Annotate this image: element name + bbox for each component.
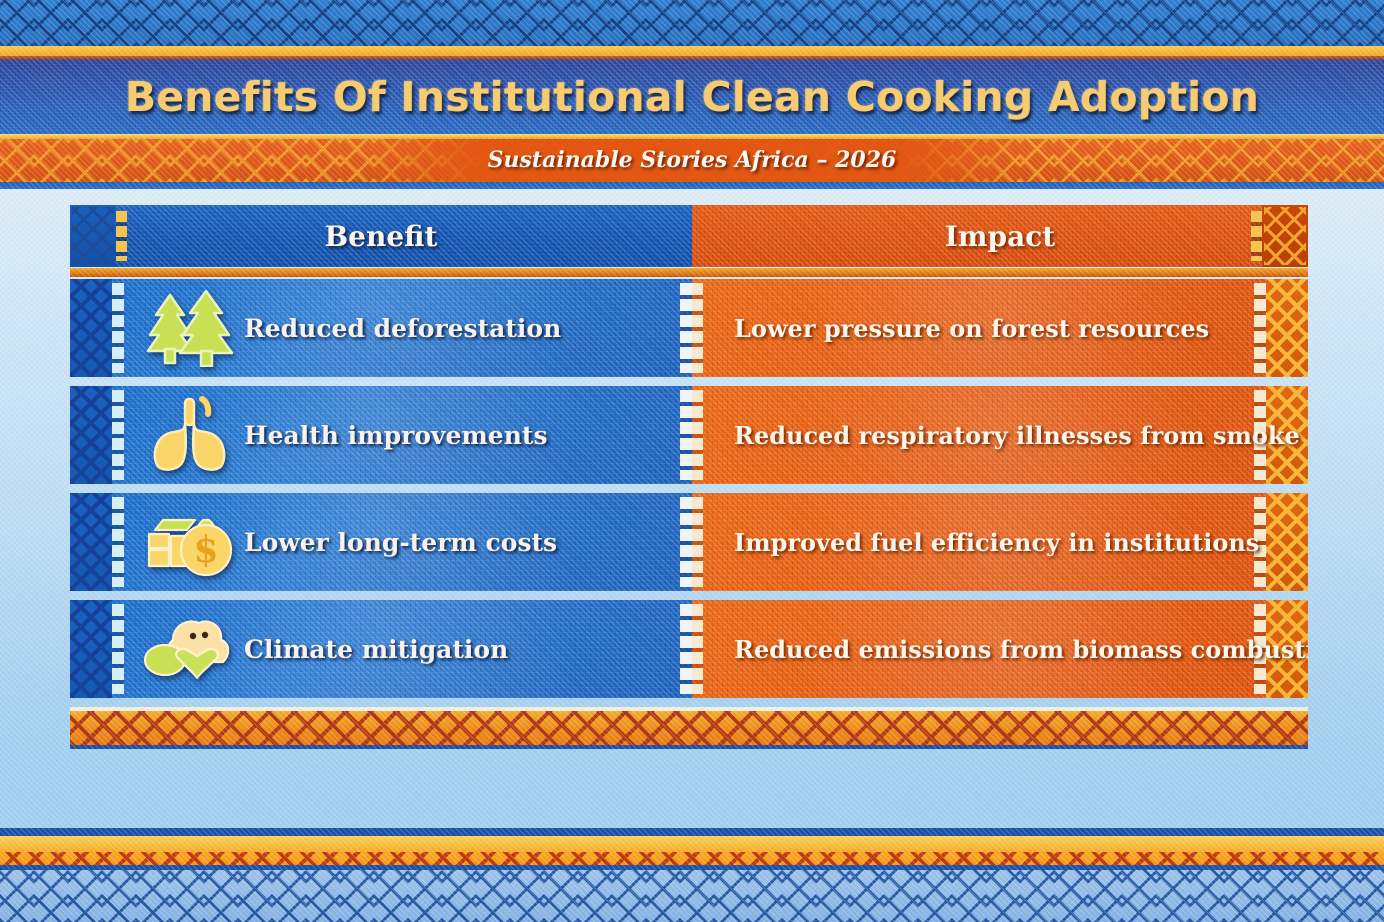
row-dash-right (1254, 283, 1266, 373)
benefit-label: Health improvements (244, 421, 548, 450)
table-row[interactable]: Climate mitigation Reduced emissions fro… (70, 600, 1308, 698)
impact-label: Improved fuel efficiency in institutions (734, 528, 1259, 557)
row-dash-divider-right (692, 497, 703, 587)
column-header-label-impact: Impact (945, 220, 1055, 253)
top-chevron-border (0, 0, 1384, 46)
table-footer-pattern (70, 707, 1308, 749)
benefit-label: Lower long-term costs (244, 528, 557, 557)
subtitle-bottom-stripe (0, 182, 1384, 189)
bottom-chevron-border (0, 865, 1384, 922)
benefit-cell: Reduced deforestation (70, 279, 692, 377)
header-dash-left (116, 211, 127, 261)
row-dash-left (112, 390, 124, 480)
benefit-cell: Health improvements (70, 386, 692, 484)
impact-label: Lower pressure on forest resources (734, 314, 1209, 343)
row-dash-left (112, 283, 124, 373)
row-ornament-left (70, 279, 112, 377)
header-dash-right (1251, 211, 1262, 261)
impact-cell: Lower pressure on forest resources (692, 279, 1308, 377)
lungs-icon (136, 395, 244, 475)
table-row[interactable]: $ Lower long-term costs Improved fuel ef… (70, 493, 1308, 591)
svg-text:$: $ (193, 529, 218, 571)
row-dash-divider (680, 497, 692, 587)
row-ornament-left (70, 493, 112, 591)
row-ornament-left (70, 386, 112, 484)
subtitle-text-layer: Sustainable Stories Africa – 2026 (0, 139, 1384, 182)
header-ornament-left (70, 205, 116, 267)
row-ornament-right (1266, 279, 1308, 377)
pine-trees-icon (136, 289, 244, 367)
top-chevron-pattern (0, 0, 1384, 46)
benefit-label: Reduced deforestation (244, 314, 561, 343)
table-header-row: Benefit Impact (70, 205, 1308, 267)
impact-cell: Reduced respiratory illnesses from smoke (692, 386, 1308, 484)
impact-label: Reduced emissions from biomass combustio… (734, 635, 1308, 664)
header-ornament-right (1262, 205, 1308, 267)
row-dash-divider (680, 604, 692, 694)
row-dash-divider (680, 283, 692, 373)
row-dash-divider-right (692, 283, 703, 373)
row-ornament-left (70, 600, 112, 698)
money-bag-icon: $ (136, 506, 244, 578)
table-row[interactable]: Health improvements Reduced respiratory … (70, 386, 1308, 484)
row-dash-left (112, 497, 124, 587)
page-subtitle: Sustainable Stories Africa – 2026 (0, 139, 1384, 182)
benefit-label: Climate mitigation (244, 635, 508, 664)
row-dash-divider-right (692, 390, 703, 480)
bottom-chevron-pattern (0, 870, 1384, 922)
title-banner: Benefits Of Institutional Clean Cooking … (0, 60, 1384, 134)
row-ornament-right (1266, 493, 1308, 591)
benefits-impact-table: Benefit Impact (70, 205, 1308, 749)
row-dash-divider (680, 390, 692, 480)
impact-cell: Reduced emissions from biomass combustio… (692, 600, 1308, 698)
table-row[interactable]: Reduced deforestation Lower pressure on … (70, 279, 1308, 377)
slide-canvas: Benefits Of Institutional Clean Cooking … (0, 0, 1384, 922)
top-gold-stripe (0, 46, 1384, 56)
impact-cell: Improved fuel efficiency in institutions (692, 493, 1308, 591)
page-title: Benefits Of Institutional Clean Cooking … (0, 60, 1384, 134)
header-gold-underline (70, 268, 1308, 277)
benefit-cell: $ Lower long-term costs (70, 493, 692, 591)
benefit-cell: Climate mitigation (70, 600, 692, 698)
climate-cloud-leaf-icon (136, 614, 244, 684)
bottom-blue-line (0, 828, 1384, 836)
row-dash-left (112, 604, 124, 694)
row-dash-divider-right (692, 604, 703, 694)
column-header-impact: Impact (692, 205, 1308, 267)
impact-label: Reduced respiratory illnesses from smoke (734, 421, 1300, 450)
column-header-label-benefit: Benefit (325, 220, 438, 253)
column-header-benefit: Benefit (70, 205, 692, 267)
